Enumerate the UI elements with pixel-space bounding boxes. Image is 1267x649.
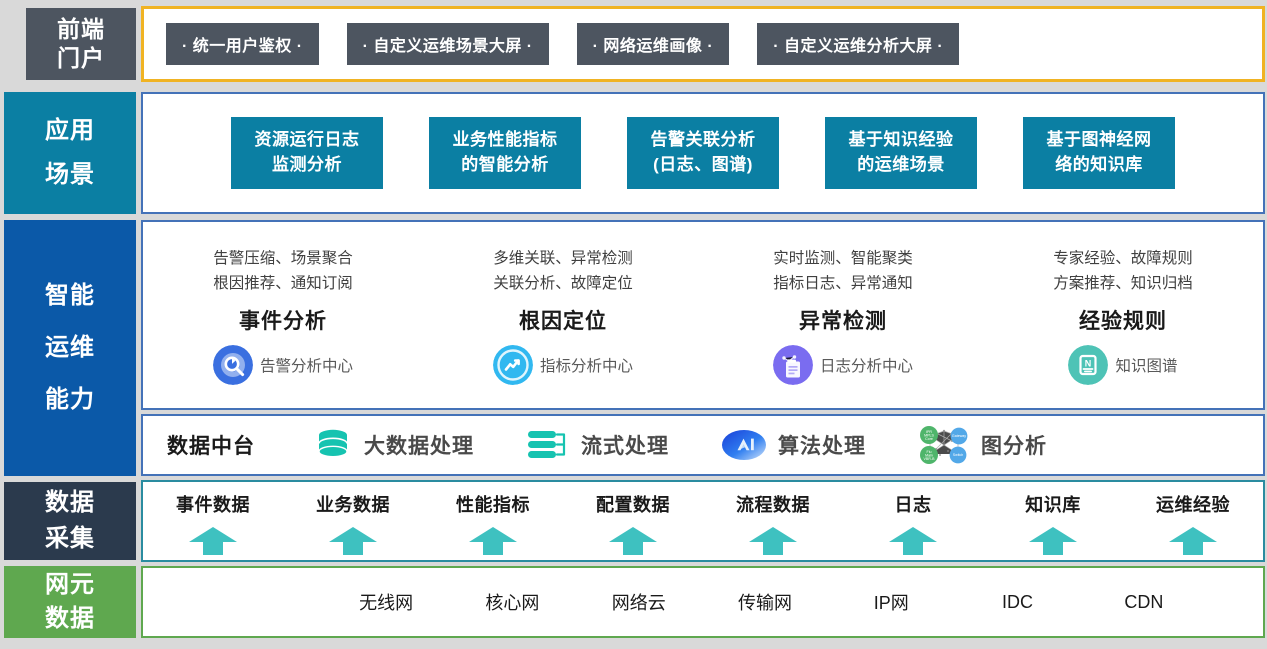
collection-item-logs[interactable]: 日志 xyxy=(843,491,983,555)
up-arrow-icon xyxy=(327,525,379,555)
sidebar-label-portal-line-2: 门户 xyxy=(57,44,105,73)
graph-network-icon: IPRMPLSCore FluMainVBR-B Gateway Switch xyxy=(918,423,970,467)
metric-analysis-icon xyxy=(493,345,533,385)
svg-text:N: N xyxy=(1085,359,1092,369)
collection-item-label: 日志 xyxy=(895,491,932,517)
scenario-card-line-1: 告警关联分析 xyxy=(651,128,756,153)
capability-desc-line-1: 多维关联、异常检测 xyxy=(493,246,633,271)
database-icon xyxy=(313,426,353,464)
scenario-card-line-2: 监测分析 xyxy=(272,153,342,178)
portal-button-network-ops-profile[interactable]: · 网络运维画像 · xyxy=(577,23,730,65)
capability-desc-line-2: 关联分析、故障定位 xyxy=(493,271,633,296)
data-platform-label: 大数据处理 xyxy=(364,430,474,460)
alarm-analysis-icon xyxy=(213,345,253,385)
capability-footer[interactable]: 告警分析中心 xyxy=(213,345,353,385)
scenario-card-business-performance[interactable]: 业务性能指标 的智能分析 xyxy=(429,117,581,189)
svg-text:Gateway: Gateway xyxy=(952,434,966,438)
collection-item-label: 流程数据 xyxy=(736,491,810,517)
data-platform-item-stream[interactable]: 流式处理 xyxy=(526,426,669,464)
up-arrow-icon xyxy=(1027,525,1079,555)
collection-item-business-data[interactable]: 业务数据 xyxy=(283,491,423,555)
sidebar-label-scenarios-line-1: 应用 xyxy=(45,116,95,146)
data-platform-label: 流式处理 xyxy=(581,430,669,460)
sidebar-label-scenarios-line-2: 场景 xyxy=(45,160,95,190)
capability-title-anomaly-detection: 异常检测 xyxy=(799,305,887,335)
sidebar-label-capability-line-3: 能力 xyxy=(45,385,95,415)
data-platform-panel: 数据中台 大数据处理 流式处理 xyxy=(141,414,1265,476)
portal-button-custom-ops-dashboard[interactable]: · 自定义运维场景大屏 · xyxy=(347,23,549,65)
collection-panel: 事件数据 业务数据 性能指标 配置数据 流程数据 日志 xyxy=(141,480,1265,562)
architecture-diagram: 前端 门户 · 统一用户鉴权 · · 自定义运维场景大屏 · · 网络运维画像 … xyxy=(0,0,1267,649)
sidebar-label-capability: 智能 运维 能力 xyxy=(4,220,136,476)
sidebar-label-collection: 数据 采集 xyxy=(4,482,136,560)
scenario-card-line-1: 业务性能指标 xyxy=(453,128,558,153)
capability-desc-line-1: 实时监测、智能聚类 xyxy=(773,246,913,271)
data-platform-item-group: 数据中台 大数据处理 流式处理 xyxy=(143,416,1263,474)
capability-desc-line-1: 告警压缩、场景聚合 xyxy=(213,246,353,271)
capability-column-experience-rules: 专家经验、故障规则 方案推荐、知识归档 经验规则 N 知识图谱 xyxy=(983,222,1263,408)
collection-item-label: 业务数据 xyxy=(316,491,390,517)
svg-text:Switch: Switch xyxy=(953,453,964,457)
portal-panel: · 统一用户鉴权 · · 自定义运维场景大屏 · · 网络运维画像 · · 自定… xyxy=(141,6,1265,82)
up-arrow-icon xyxy=(1167,525,1219,555)
up-arrow-icon xyxy=(887,525,939,555)
capability-column-event-analysis: 告警压缩、场景聚合 根因推荐、通知订阅 事件分析 告警分析中心 xyxy=(143,222,423,408)
scenario-card-group: 资源运行日志 监测分析 业务性能指标 的智能分析 告警关联分析 (日志、图谱) … xyxy=(143,94,1263,212)
ai-icon xyxy=(721,428,767,462)
capability-footer[interactable]: 日志分析中心 xyxy=(773,345,913,385)
sidebar-label-collection-line-2: 采集 xyxy=(45,524,95,554)
scenario-card-line-2: 络的知识库 xyxy=(1055,153,1143,178)
scenario-card-gnn-knowledge-base[interactable]: 基于图神经网 络的知识库 xyxy=(1023,117,1175,189)
stream-icon xyxy=(526,426,570,464)
capability-desc-line-1: 专家经验、故障规则 xyxy=(1053,246,1193,271)
capability-desc-line-2: 根因推荐、通知订阅 xyxy=(213,271,353,296)
collection-item-process-data[interactable]: 流程数据 xyxy=(703,491,843,555)
collection-item-label: 性能指标 xyxy=(456,491,530,517)
collection-item-config-data[interactable]: 配置数据 xyxy=(563,491,703,555)
sidebar-label-portal-line-1: 前端 xyxy=(57,15,105,44)
sidebar-label-capability-line-1: 智能 xyxy=(45,281,95,311)
collection-item-label: 知识库 xyxy=(1025,491,1081,517)
up-arrow-icon xyxy=(607,525,659,555)
network-item-ip[interactable]: IP网 xyxy=(828,589,954,615)
scenario-card-line-1: 基于图神经网 xyxy=(1047,128,1152,153)
capability-panel: 告警压缩、场景聚合 根因推荐、通知订阅 事件分析 告警分析中心 多维关联、异常 xyxy=(141,220,1265,410)
scenario-card-line-1: 资源运行日志 xyxy=(255,128,360,153)
network-item-transport[interactable]: 传输网 xyxy=(702,589,828,615)
scenario-card-knowledge-experience[interactable]: 基于知识经验 的运维场景 xyxy=(825,117,977,189)
portal-button-custom-ops-analysis-dashboard[interactable]: · 自定义运维分析大屏 · xyxy=(757,23,959,65)
sidebar-label-portal: 前端 门户 xyxy=(26,8,136,80)
data-platform-item-algorithm[interactable]: 算法处理 xyxy=(721,428,866,462)
scenario-card-line-1: 基于知识经验 xyxy=(849,128,954,153)
collection-item-ops-experience[interactable]: 运维经验 xyxy=(1123,491,1263,555)
up-arrow-icon xyxy=(187,525,239,555)
capability-title-experience-rules: 经验规则 xyxy=(1079,305,1167,335)
capability-desc-line-2: 指标日志、异常通知 xyxy=(773,271,913,296)
network-item-core[interactable]: 核心网 xyxy=(449,589,575,615)
capability-footer-label: 指标分析中心 xyxy=(540,354,633,376)
scenario-card-alarm-correlation[interactable]: 告警关联分析 (日志、图谱) xyxy=(627,117,779,189)
capability-column-root-cause: 多维关联、异常检测 关联分析、故障定位 根因定位 指标分析中心 xyxy=(423,222,703,408)
knowledge-graph-icon: N xyxy=(1068,345,1108,385)
data-platform-item-graph[interactable]: IPRMPLSCore FluMainVBR-B Gateway Switch … xyxy=(918,423,1047,467)
collection-item-performance-metrics[interactable]: 性能指标 xyxy=(423,491,563,555)
svg-text:Core: Core xyxy=(925,437,933,441)
sidebar-label-scenarios: 应用 场景 xyxy=(4,92,136,214)
sidebar-label-network: 网元 数据 xyxy=(4,566,136,638)
collection-item-event-data[interactable]: 事件数据 xyxy=(143,491,283,555)
collection-item-label: 配置数据 xyxy=(596,491,670,517)
capability-footer-label: 日志分析中心 xyxy=(820,354,913,376)
log-analysis-icon xyxy=(773,345,813,385)
svg-text:VBR-B: VBR-B xyxy=(924,457,936,461)
scenario-card-line-2: 的运维场景 xyxy=(857,153,945,178)
scenario-card-line-2: 的智能分析 xyxy=(461,153,549,178)
sidebar-label-capability-line-2: 运维 xyxy=(45,333,95,363)
network-panel: 无线网 核心网 网络云 传输网 IP网 IDC CDN xyxy=(141,566,1265,638)
data-platform-item-bigdata[interactable]: 大数据处理 xyxy=(313,426,474,464)
up-arrow-icon xyxy=(747,525,799,555)
collection-item-label: 事件数据 xyxy=(176,491,250,517)
collection-item-group: 事件数据 业务数据 性能指标 配置数据 流程数据 日志 xyxy=(143,482,1263,560)
portal-button-group: · 统一用户鉴权 · · 自定义运维场景大屏 · · 网络运维画像 · · 自定… xyxy=(144,9,1262,79)
sidebar-label-collection-line-1: 数据 xyxy=(45,488,95,518)
sidebar-label-network-line-2: 数据 xyxy=(45,604,95,634)
network-item-group: 无线网 核心网 网络云 传输网 IP网 IDC CDN xyxy=(143,568,1263,636)
data-platform-label: 图分析 xyxy=(981,430,1047,460)
up-arrow-icon xyxy=(467,525,519,555)
capability-column-group: 告警压缩、场景聚合 根因推荐、通知订阅 事件分析 告警分析中心 多维关联、异常 xyxy=(143,222,1263,408)
capability-desc-line-2: 方案推荐、知识归档 xyxy=(1053,271,1193,296)
capability-footer[interactable]: N 知识图谱 xyxy=(1068,345,1177,385)
scenario-card-resource-log[interactable]: 资源运行日志 监测分析 xyxy=(231,117,383,189)
collection-item-knowledge-base[interactable]: 知识库 xyxy=(983,491,1123,555)
capability-title-event-analysis: 事件分析 xyxy=(239,305,327,335)
data-platform-title: 数据中台 xyxy=(167,430,255,460)
data-platform-label: 算法处理 xyxy=(778,430,866,460)
network-item-wireless[interactable]: 无线网 xyxy=(323,589,449,615)
sidebar-label-network-line-1: 网元 xyxy=(45,570,95,600)
portal-button-unified-auth[interactable]: · 统一用户鉴权 · xyxy=(166,23,319,65)
capability-title-root-cause: 根因定位 xyxy=(519,305,607,335)
collection-item-label: 运维经验 xyxy=(1156,491,1230,517)
scenarios-panel: 资源运行日志 监测分析 业务性能指标 的智能分析 告警关联分析 (日志、图谱) … xyxy=(141,92,1265,214)
capability-footer[interactable]: 指标分析中心 xyxy=(493,345,633,385)
capability-footer-label: 知识图谱 xyxy=(1115,354,1177,376)
network-item-cdn[interactable]: CDN xyxy=(1081,592,1207,613)
scenario-card-line-2: (日志、图谱) xyxy=(653,153,753,178)
capability-column-anomaly-detection: 实时监测、智能聚类 指标日志、异常通知 异常检测 xyxy=(703,222,983,408)
network-item-idc[interactable]: IDC xyxy=(954,592,1080,613)
capability-footer-label: 告警分析中心 xyxy=(260,354,353,376)
network-item-cloud[interactable]: 网络云 xyxy=(576,589,702,615)
